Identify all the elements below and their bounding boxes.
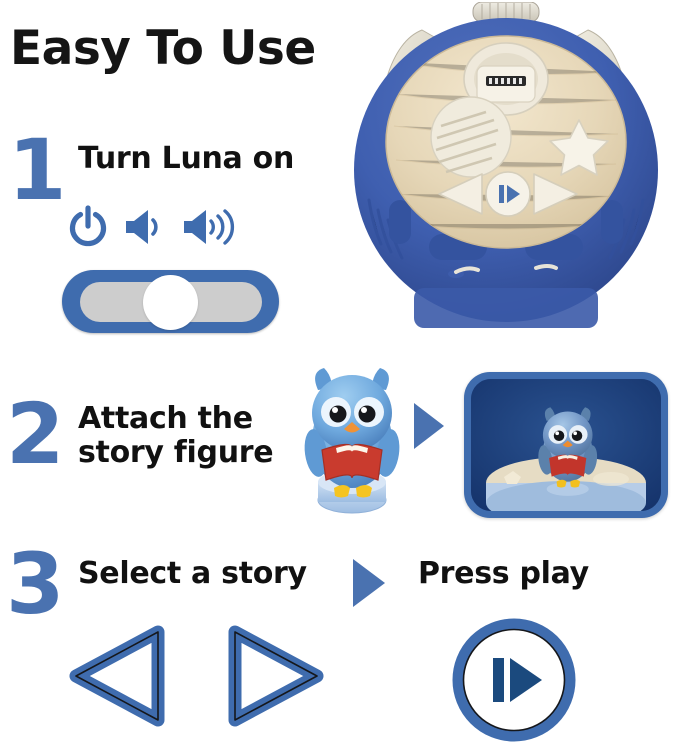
previous-triangle-button[interactable]: [58, 616, 188, 741]
play-pause-button[interactable]: [448, 614, 580, 751]
step-2-heading-line1: Attach the: [78, 402, 308, 436]
page-title: Easy To Use: [10, 25, 316, 72]
step-number-2: 2: [6, 392, 64, 476]
toggle-track: [80, 282, 262, 322]
result-photo: [471, 379, 661, 511]
step-3-secondary-heading: Press play: [418, 557, 589, 591]
toggle-knob[interactable]: [143, 275, 198, 330]
step-number-3: 3: [6, 542, 64, 626]
infographic-canvas: Easy To Use 1 Turn Luna on: [0, 0, 679, 753]
arrow-right-icon-step2: [408, 400, 448, 457]
step-3-heading: Select a story: [78, 557, 307, 591]
luna-device-image: [336, 2, 676, 332]
power-toggle-switch[interactable]: [62, 270, 279, 333]
power-volume-icon-row: [68, 203, 236, 251]
next-triangle-button[interactable]: [205, 616, 335, 741]
speaker-grille: [431, 97, 511, 177]
volume-low-icon: [122, 205, 166, 249]
step-number-1: 1: [8, 128, 66, 212]
power-icon: [68, 205, 108, 249]
result-photo-frame: [464, 372, 668, 518]
volume-high-icon: [180, 205, 236, 249]
arrow-right-icon-step3: [347, 556, 389, 615]
step-1-heading: Turn Luna on: [78, 142, 294, 176]
step-2-heading-line2: story figure: [78, 436, 308, 470]
step-2-heading: Attach the story figure: [78, 402, 308, 469]
owl-story-figure: [296, 358, 408, 518]
device-play-button: [486, 172, 530, 216]
